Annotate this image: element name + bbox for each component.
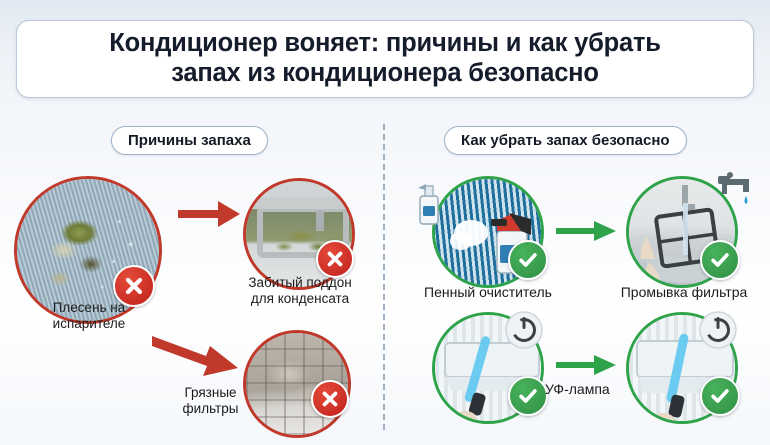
section-badge-solutions-label: Как убрать запах безопасно [461, 132, 670, 149]
caption-uv-lamp: УФ-лампа [545, 381, 641, 398]
caption-filters-line2: фильтры [158, 401, 263, 417]
arrow-to-tray [176, 196, 244, 232]
caption-foam-cleaner: Пенный очиститель [400, 284, 576, 301]
arrow-to-uv-applied [556, 352, 618, 378]
status-badge-x-tray [316, 240, 354, 278]
caption-tray-line1: Забитый поддон [230, 275, 370, 291]
status-badge-check-foam [508, 240, 548, 280]
caption-filters: Грязные фильтры [158, 385, 263, 417]
section-badge-causes-label: Причины запаха [128, 132, 251, 149]
caption-tray: Забитый поддон для конденсата [230, 275, 370, 307]
section-badge-causes: Причины запаха [111, 126, 268, 155]
status-badge-x-filters [311, 380, 349, 418]
section-badge-solutions: Как убрать запах безопасно [444, 126, 687, 155]
title-line-2: запах из кондиционера безопасно [109, 59, 661, 89]
faucet-icon [716, 172, 758, 212]
caption-tray-line2: для конденсата [230, 291, 370, 307]
status-badge-check-uv [508, 376, 548, 416]
status-badge-check-wash [700, 240, 740, 280]
page-title: Кондиционер воняет: причины и как убрать… [101, 29, 669, 88]
caption-filter-washing: Промывка фильтра [600, 284, 768, 301]
power-button-icon-2 [698, 310, 738, 350]
spray-bottle-icon [414, 180, 444, 228]
arrow-to-filters [150, 330, 242, 382]
title-card: Кондиционер воняет: причины и как убрать… [16, 20, 754, 98]
title-line-1: Кондиционер воняет: причины и как убрать [109, 29, 661, 59]
power-button-icon [504, 310, 544, 350]
infographic-canvas: Кондиционер воняет: причины и как убрать… [0, 0, 770, 445]
caption-filters-line1: Грязные [158, 385, 263, 401]
vertical-divider [383, 124, 385, 430]
caption-mold: Плесень на испарителе [24, 300, 154, 332]
caption-mold-line1: Плесень на [24, 300, 154, 316]
arrow-to-filter-wash [556, 218, 618, 244]
caption-mold-line2: испарителе [24, 316, 154, 332]
status-badge-check-uv-applied [700, 376, 740, 416]
